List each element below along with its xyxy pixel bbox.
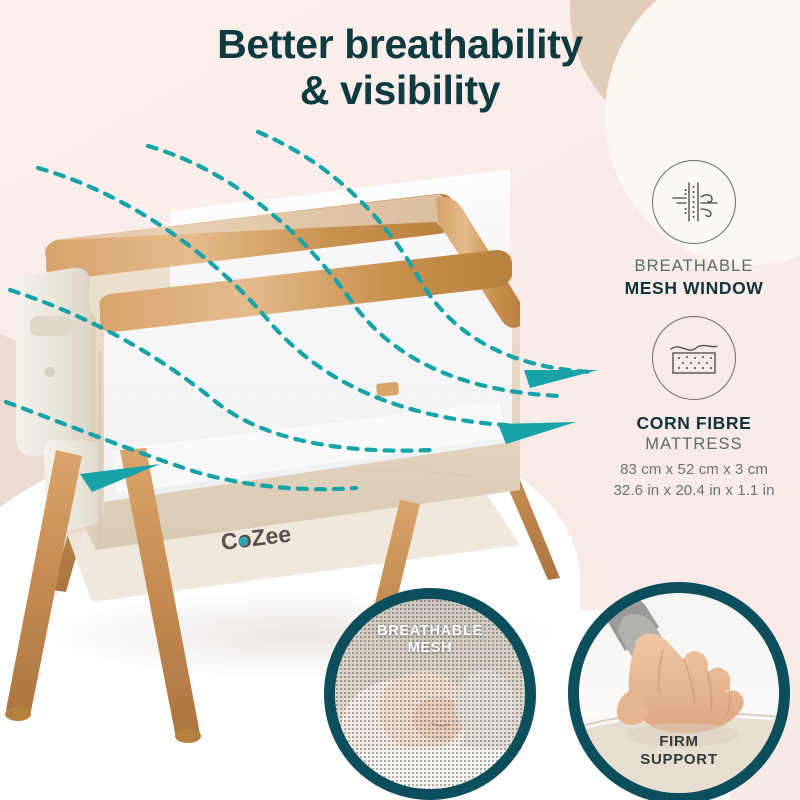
firm-photo-caption: FIRM SUPPORT bbox=[579, 733, 779, 769]
infographic-canvas: Better breathability & visibility bbox=[0, 0, 800, 800]
breathable-mesh-photo: BREATHABLE MESH bbox=[324, 588, 536, 800]
title-line-1: Better breathability bbox=[217, 21, 583, 67]
mattress-dimensions-cm: 83 cm x 52 cm x 3 cm bbox=[596, 460, 792, 481]
mesh-photo-caption: BREATHABLE MESH bbox=[335, 623, 525, 658]
feature-mesh-line-1: BREATHABLE bbox=[596, 256, 792, 277]
firm-caption-line-2: SUPPORT bbox=[579, 751, 779, 769]
feature-mattress-line-2: MATTRESS bbox=[596, 434, 792, 455]
feature-mesh-window: BREATHABLE MESH WINDOW bbox=[596, 160, 792, 300]
firm-caption-line-1: FIRM bbox=[579, 733, 779, 751]
mattress-icon bbox=[652, 316, 736, 400]
feature-corn-fibre-mattress: CORN FIBRE MATTRESS 83 cm x 52 cm x 3 cm… bbox=[596, 316, 792, 502]
mesh-caption-line-2: MESH bbox=[335, 640, 525, 657]
mattress-dimensions-in: 32.6 in x 20.4 in x 1.1 in bbox=[596, 481, 792, 502]
mesh-window-airflow-icon bbox=[652, 160, 736, 244]
firm-support-photo: FIRM SUPPORT bbox=[568, 582, 790, 800]
feature-mesh-line-2: MESH WINDOW bbox=[596, 277, 792, 299]
page-title: Better breathability & visibility bbox=[0, 22, 800, 114]
feature-mattress-line-1: CORN FIBRE bbox=[596, 412, 792, 434]
mesh-caption-line-1: BREATHABLE bbox=[335, 623, 525, 640]
title-line-2: & visibility bbox=[0, 68, 800, 114]
feature-list: BREATHABLE MESH WINDOW bbox=[596, 160, 792, 517]
